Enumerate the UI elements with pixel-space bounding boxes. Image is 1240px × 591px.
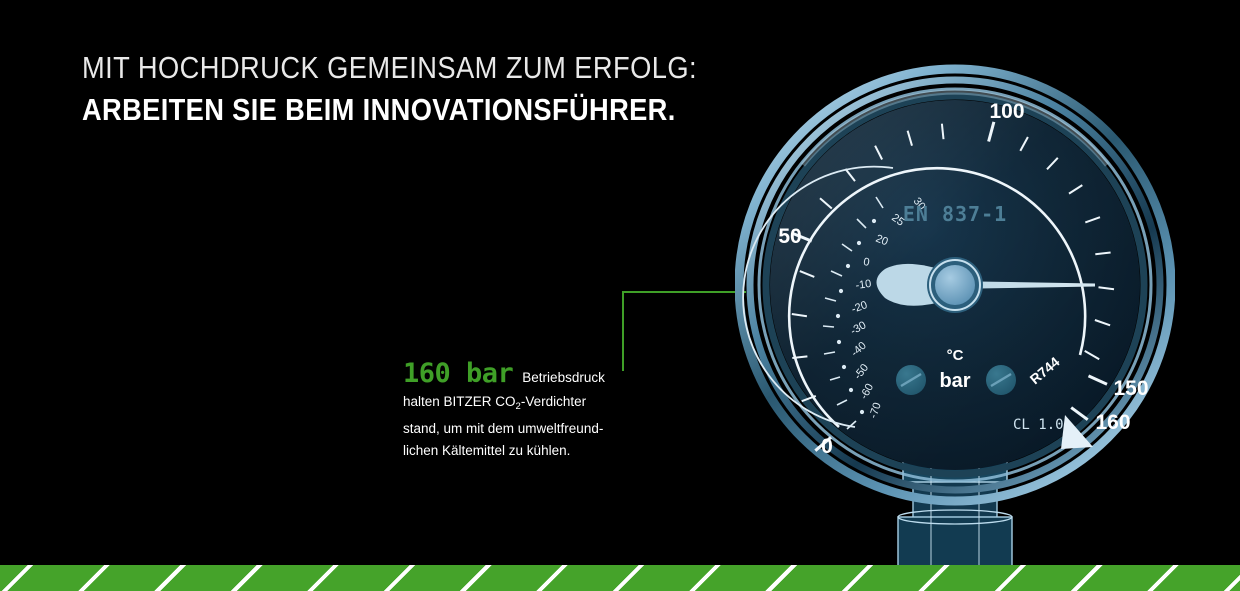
headline-block: MIT HOCHDRUCK GEMEINSAM ZUM ERFOLG: ARBE…	[82, 48, 782, 132]
callout-value: 160 bar	[403, 360, 513, 387]
callout-block: 160 bar Betriebsdruck halten BITZER CO2-…	[403, 360, 658, 462]
poster-canvas: MIT HOCHDRUCK GEMEINSAM ZUM ERFOLG: ARBE…	[0, 0, 1240, 591]
needle-hub-cap	[935, 265, 975, 305]
callout-body-line-4: lichen Kältemittel zu kühlen.	[403, 440, 658, 462]
callout-line2-a: halten BITZER CO	[403, 394, 516, 409]
callout-lead: Betriebsdruck	[522, 371, 605, 385]
headline-line-1: MIT HOCHDRUCK GEMEINSAM ZUM ERFOLG:	[82, 48, 698, 88]
bottom-stripe-band	[0, 565, 1240, 591]
band-diagonal-stripes	[0, 565, 1240, 591]
callout-body-line-3: stand, um mit dem umweltfreund-	[403, 418, 658, 440]
gauge-svg: 0 50 100 150 160	[735, 55, 1175, 575]
headline-line-2: ARBEITEN SIE BEIM INNOVATIONSFÜHRER.	[82, 88, 698, 132]
unit-celsius-label: °C	[947, 347, 964, 364]
callout-body: halten BITZER CO2-Verdichter stand, um m…	[403, 391, 658, 462]
unit-bar-label: bar	[939, 370, 970, 392]
leader-vertical-segment	[622, 291, 624, 371]
pressure-label-0: 0	[821, 435, 833, 458]
callout-headline: 160 bar Betriebsdruck	[403, 360, 658, 387]
standard-marking-text: EN 837-1	[903, 202, 1007, 226]
leader-horizontal-segment	[622, 291, 746, 293]
callout-line2-b: -Verdichter	[521, 394, 586, 409]
temperature-label-minus10: -10	[855, 278, 872, 292]
pressure-label-50: 50	[778, 225, 801, 248]
accuracy-class-label: CL 1.0	[1013, 417, 1064, 433]
callout-body-line-2: halten BITZER CO2-Verdichter	[403, 391, 658, 418]
pressure-label-160: 160	[1095, 411, 1130, 434]
pressure-label-150: 150	[1113, 377, 1148, 400]
pressure-gauge-illustration: 0 50 100 150 160	[735, 55, 1175, 575]
